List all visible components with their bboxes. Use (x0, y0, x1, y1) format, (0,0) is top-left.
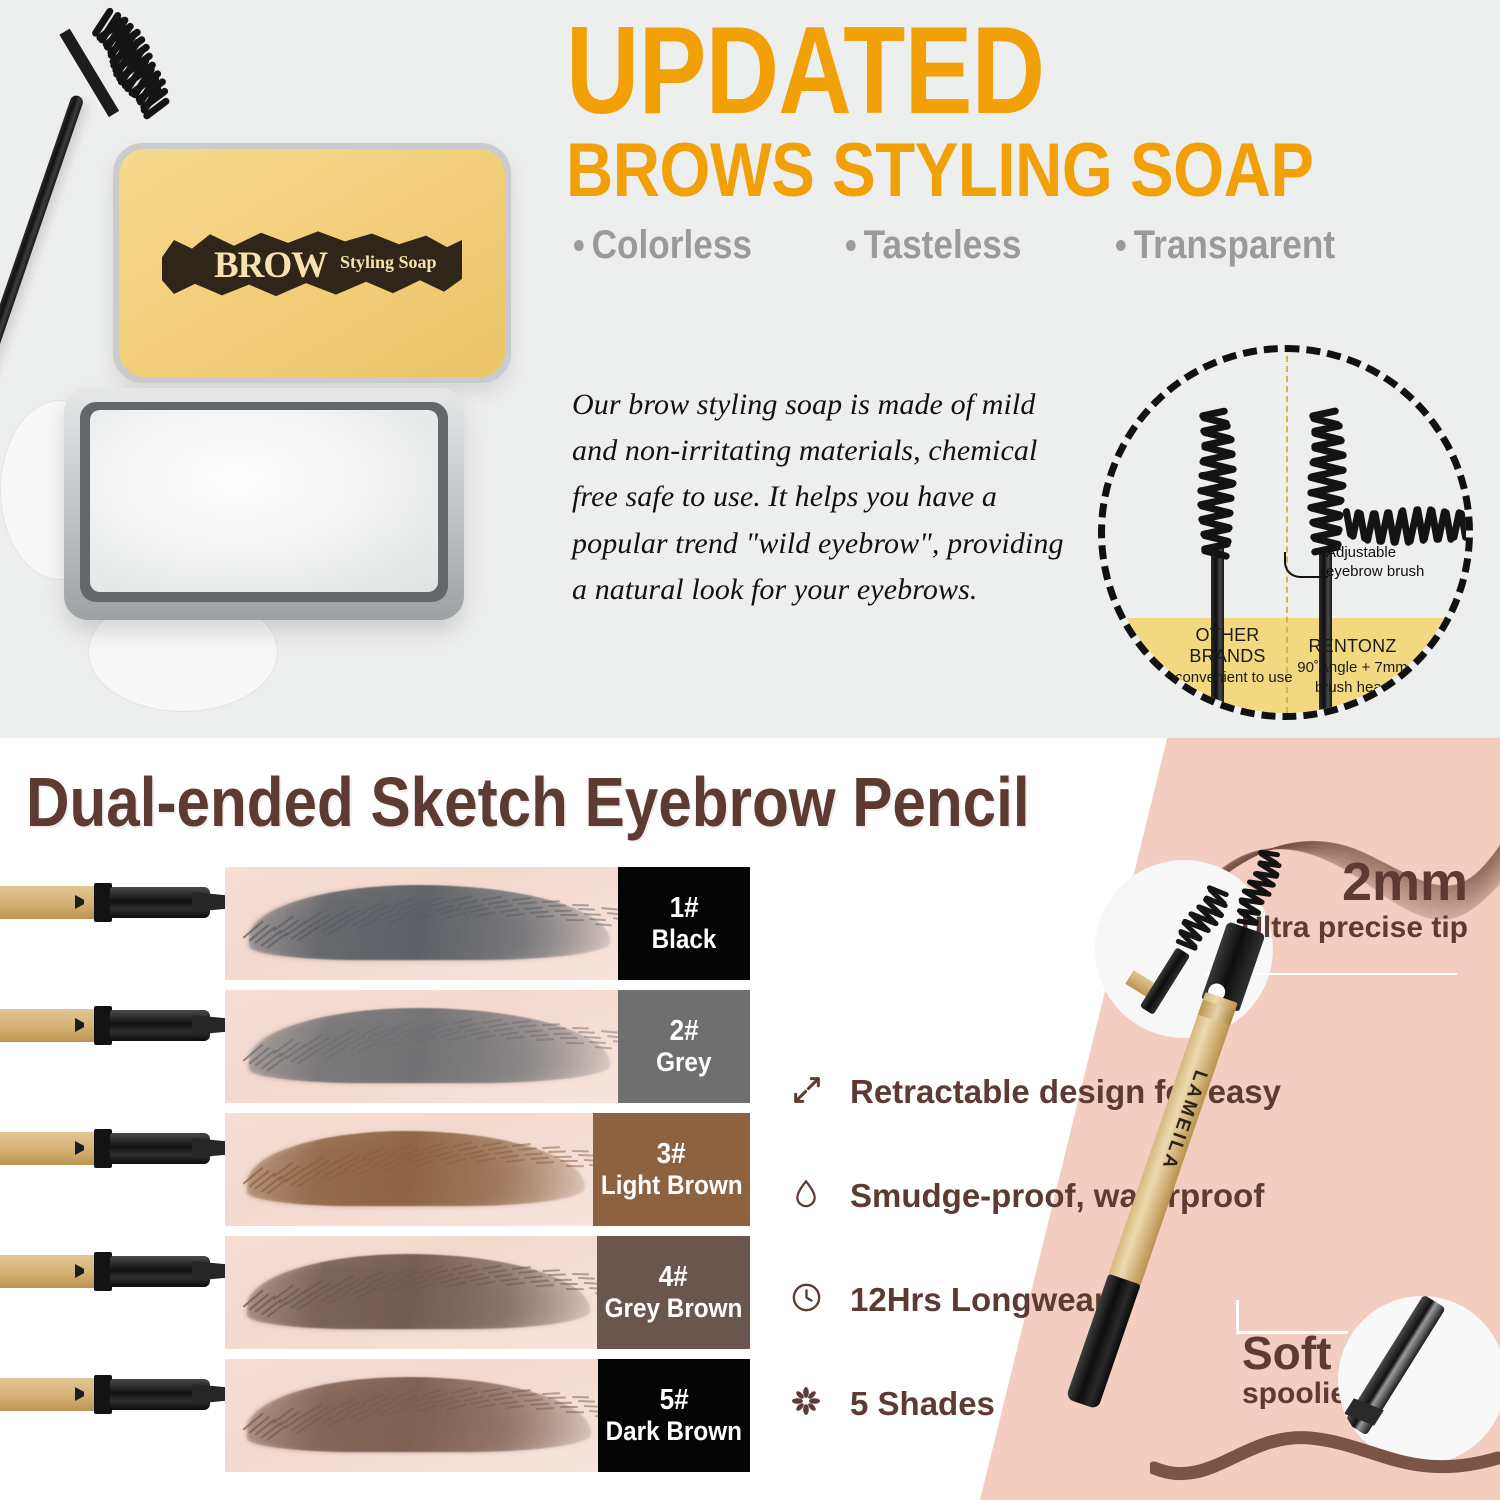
water-drop-icon (790, 1177, 828, 1215)
brow-preview-image (225, 1359, 598, 1472)
pencil-thumbnail (0, 878, 207, 928)
brow-hair-strokes (225, 1359, 598, 1472)
shade-number: 4# (659, 1262, 688, 1293)
shade-name: Light Brown (600, 1171, 742, 1200)
soap-tin-closed-image: BROW Styling Soap (113, 143, 511, 383)
headline-product: BROWS STYLING SOAP (566, 133, 1340, 209)
retract-arrows-icon (790, 1073, 828, 1111)
tin-inner-rim (80, 402, 448, 602)
feature-label: 12Hrs Longwear (850, 1281, 1107, 1319)
shade-list: 1#Black2#Grey3#Light Brown4#Grey Brown5#… (225, 867, 750, 1482)
callout-leader-line (1284, 552, 1328, 578)
shade-swatch[interactable]: 2#Grey (618, 990, 750, 1103)
shade-row[interactable]: 4#Grey Brown (225, 1236, 750, 1349)
shade-swatch[interactable]: 3#Light Brown (593, 1113, 750, 1226)
shade-name: Grey Brown (605, 1294, 743, 1323)
shade-name: Black (652, 925, 717, 954)
hero-bullet-label: Colorless (592, 223, 752, 268)
pencil-barrel (0, 886, 96, 919)
brow-swatch-stroke (1150, 1418, 1500, 1492)
brow-hair-strokes (225, 867, 618, 980)
pencil-barrel (0, 1132, 96, 1165)
comparison-rentonz-title: RENTONZ (1275, 636, 1430, 657)
adjustable-callout-line2: eyebrow brush (1326, 563, 1456, 582)
hero-headline-block: UPDATED BROWS STYLING SOAP Colorless Tas… (566, 14, 1466, 268)
shade-swatch[interactable]: 4#Grey Brown (597, 1236, 750, 1349)
pencil-barrel (0, 1378, 96, 1411)
feature-label: Smudge-proof, waterproof (850, 1177, 1264, 1215)
feature-row: 12Hrs Longwear (790, 1248, 1260, 1352)
shade-number: 5# (660, 1385, 689, 1416)
bullet-dot-icon (1116, 240, 1126, 251)
pencil-thumbnail (0, 1370, 207, 1420)
brand-logo-main: BROW (214, 244, 327, 287)
shade-swatch[interactable]: 1#Black (618, 867, 750, 980)
pencil-thumbnail (0, 1247, 207, 1297)
brand-logo-sub: Styling Soap (340, 252, 437, 273)
section-title: Dual-ended Sketch Eyebrow Pencil (26, 762, 1030, 842)
brow-preview-image (225, 990, 618, 1103)
shade-name: Grey (656, 1048, 711, 1077)
brow-preview-image (225, 867, 618, 980)
tin-lid-face: BROW Styling Soap (119, 149, 505, 377)
hero-bullet-label: Transparent (1133, 223, 1334, 268)
brow-preview-image (225, 1113, 593, 1226)
shade-number: 3# (657, 1139, 686, 1170)
feature-label: 5 Shades (850, 1385, 995, 1423)
comparison-rentonz-sub2: brush head (1275, 679, 1430, 697)
wand-bristles-icon (60, 0, 225, 148)
soap-tin-open-image (64, 388, 464, 620)
bullet-dot-icon (846, 240, 856, 251)
hero-bullet-transparent: Transparent (1116, 223, 1335, 268)
soap-hero-panel: BROW Styling Soap UPDATED BROWS STYLING … (0, 0, 1500, 738)
product-description: Our brow styling soap is made of mild an… (572, 382, 1072, 613)
pencil-thumbnail (0, 1124, 207, 1174)
hero-bullet-tasteless: Tasteless (846, 223, 1021, 268)
comparison-rentonz-sub1: 90˚Angle + 7mm (1275, 659, 1430, 677)
hero-bullet-row: Colorless Tasteless Transparent (566, 223, 1466, 268)
headline-updated: UPDATED (566, 14, 1304, 129)
shade-row[interactable]: 2#Grey (225, 990, 750, 1103)
shade-row[interactable]: 3#Light Brown (225, 1113, 750, 1226)
shade-swatch[interactable]: 5#Dark Brown (598, 1359, 750, 1472)
brush-comparison-diagram: OTHER BRANDS Inconvenient to use RENTONZ… (1098, 345, 1473, 720)
soap-bar (90, 410, 438, 592)
brand-brush-stroke: BROW Styling Soap (162, 227, 462, 299)
flower-icon (790, 1385, 828, 1423)
pencil-barrel (0, 1009, 96, 1042)
brow-hair-strokes (225, 990, 618, 1103)
brow-preview-image (225, 1236, 597, 1349)
shade-row[interactable]: 5#Dark Brown (225, 1359, 750, 1472)
brow-hair-strokes (225, 1113, 593, 1226)
clock-icon (790, 1281, 828, 1319)
shade-name: Dark Brown (606, 1417, 742, 1446)
wand-handle (0, 94, 85, 382)
adjustable-brush-callout: Adjustable eyebrow brush (1326, 544, 1456, 582)
shade-number: 2# (669, 1016, 698, 1047)
pencil-barrel (0, 1255, 96, 1288)
shade-row[interactable]: 1#Black (225, 867, 750, 980)
pencil-thumbnail (0, 1001, 207, 1051)
hero-bullet-colorless: Colorless (574, 223, 752, 268)
bullet-dot-icon (574, 240, 584, 251)
comparison-label-rentonz: RENTONZ 90˚Angle + 7mm brush head (1275, 636, 1430, 697)
hero-bullet-label: Tasteless (864, 223, 1022, 268)
brow-hair-strokes (225, 1236, 597, 1349)
shade-number: 1# (669, 893, 698, 924)
adjustable-callout-line1: Adjustable (1326, 544, 1456, 563)
